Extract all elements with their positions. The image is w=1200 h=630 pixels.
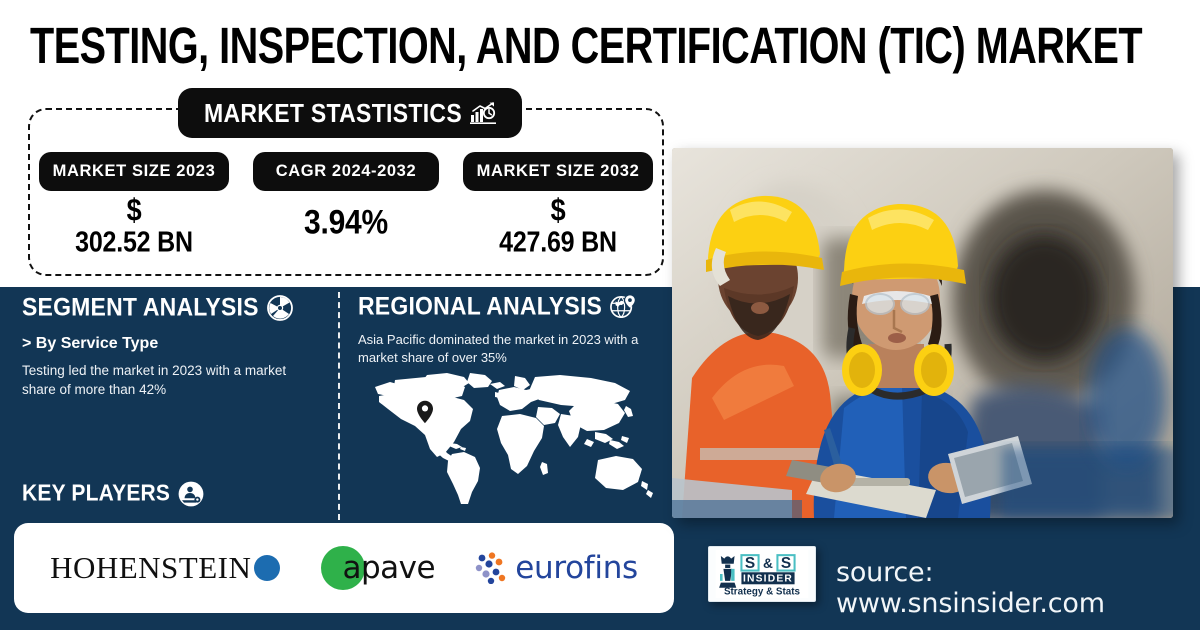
svg-text:S: S xyxy=(745,555,755,572)
eurofins-logo[interactable]: eurofins xyxy=(475,550,638,586)
segment-analysis-heading: SEGMENT ANALYSIS xyxy=(22,294,293,321)
key-players-logo-box: HOHENSTEIN apave eurofins xyxy=(14,523,674,613)
market-statistics-values: MARKET SIZE 2023 $ 302.52 BN CAGR 2024-2… xyxy=(28,152,664,272)
hohenstein-logo-text: HOHENSTEIN xyxy=(50,550,251,586)
eurofins-dots-icon xyxy=(475,552,509,584)
regional-description: Asia Pacific dominated the market in 202… xyxy=(358,331,648,368)
segment-subheading: > By Service Type xyxy=(22,335,158,353)
regional-analysis-heading: REGIONAL ANALYSIS xyxy=(358,293,636,320)
world-map xyxy=(352,372,662,504)
page-title: TESTING, INSPECTION, AND CERTIFICATION (… xyxy=(30,18,1159,76)
market-statistics-title: MARKET STASTISTICS xyxy=(204,98,462,128)
stat-currency: $ xyxy=(75,194,193,227)
stat-label: MARKET SIZE 2023 xyxy=(53,162,216,180)
stat-label: CAGR 2024-2032 xyxy=(276,162,416,180)
source-text: source: www.snsinsider.com xyxy=(836,557,1200,619)
sns-insider-logo: S & S INSIDER Strategy & Stats xyxy=(708,546,816,602)
stat-column-market-size-2032: MARKET SIZE 2032 $ 427.69 BN xyxy=(452,152,664,272)
stat-amount: 3.94% xyxy=(304,203,388,241)
stat-value: $ 427.69 BN xyxy=(499,194,617,257)
svg-text:INSIDER: INSIDER xyxy=(743,574,793,585)
industrial-inspectors-photo xyxy=(672,148,1173,518)
stat-value: 3.94% xyxy=(304,205,388,242)
stat-label-pill: CAGR 2024-2032 xyxy=(253,152,439,191)
stat-label-pill: MARKET SIZE 2023 xyxy=(39,152,230,191)
eurofins-logo-text: eurofins xyxy=(515,550,638,586)
segment-analysis-label: SEGMENT ANALYSIS xyxy=(22,293,259,323)
person-badge-icon xyxy=(178,481,204,507)
stat-currency: $ xyxy=(499,194,617,227)
svg-text:Strategy & Stats: Strategy & Stats xyxy=(724,587,801,598)
stat-label: MARKET SIZE 2032 xyxy=(477,162,640,180)
stat-amount: 427.69 BN xyxy=(499,226,617,258)
stat-value: $ 302.52 BN xyxy=(75,194,193,257)
apave-logo[interactable]: apave xyxy=(321,546,436,590)
hohenstein-logo[interactable]: HOHENSTEIN xyxy=(50,550,280,586)
apave-logo-text: apave xyxy=(343,550,436,586)
key-players-label: KEY PLAYERS xyxy=(22,481,170,507)
key-players-heading: KEY PLAYERS xyxy=(22,481,204,507)
stat-column-cagr: CAGR 2024-2032 3.94% xyxy=(240,152,452,272)
stat-label-pill: MARKET SIZE 2032 xyxy=(463,152,654,191)
stat-column-market-size-2023: MARKET SIZE 2023 $ 302.52 BN xyxy=(28,152,240,272)
regional-analysis-label: REGIONAL ANALYSIS xyxy=(358,292,602,322)
section-divider xyxy=(338,292,340,520)
svg-text:S: S xyxy=(781,555,791,572)
stat-amount: 302.52 BN xyxy=(75,226,193,258)
chart-growth-icon xyxy=(470,102,496,124)
pie-segment-icon xyxy=(267,295,293,321)
segment-description: Testing led the market in 2023 with a ma… xyxy=(22,362,312,399)
map-pin-icon xyxy=(416,400,434,424)
svg-text:&: & xyxy=(763,556,773,571)
globe-pin-icon xyxy=(610,294,636,320)
market-statistics-header: MARKET STASTISTICS xyxy=(178,88,522,138)
hohenstein-dot-icon xyxy=(254,555,280,581)
